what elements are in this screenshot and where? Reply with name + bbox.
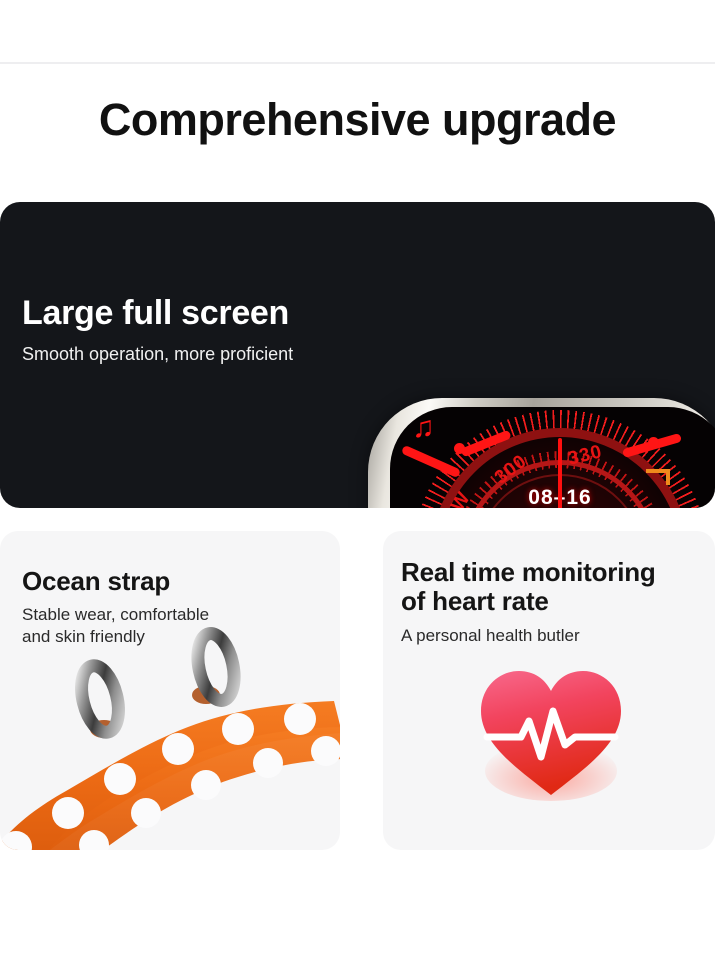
heart-rate-subtitle: A personal health butler <box>401 625 580 647</box>
hero-large-screen-card[interactable]: Large full screen Smooth operation, more… <box>0 202 715 508</box>
heart-pulse-icon <box>471 659 631 804</box>
feature-card-heart-rate[interactable]: Real time monitoring of heart rate A per… <box>383 531 715 850</box>
heart-rate-title-line1: Real time monitoring <box>401 557 656 587</box>
heart-rate-title: Real time monitoring of heart rate <box>401 558 656 616</box>
page-title: Comprehensive upgrade <box>0 95 715 145</box>
hero-text-block: Large full screen Smooth operation, more… <box>22 294 293 365</box>
hero-title: Large full screen <box>22 294 293 333</box>
feature-card-ocean-strap[interactable]: Ocean strap Stable wear, comfortable and… <box>0 531 340 850</box>
ocean-strap-subtitle-line1: Stable wear, comfortable <box>22 605 209 624</box>
hero-subtitle: Smooth operation, more proficient <box>22 344 293 365</box>
music-note-icon-top-left: ♫ <box>412 413 435 443</box>
heart-rate-title-line2: of heart rate <box>401 586 549 616</box>
watch-second-hand <box>558 438 562 508</box>
product-detail-page: Comprehensive upgrade Large full screen … <box>0 0 715 979</box>
ocean-strap-title: Ocean strap <box>22 567 170 596</box>
smartwatch-image: 300 330 W 240 270 S 120 150 700.35 ♫ 08–… <box>368 398 715 508</box>
metal-loop-left <box>75 662 124 736</box>
watch-screen: 300 330 W 240 270 S 120 150 700.35 ♫ 08–… <box>390 407 715 508</box>
slider-knob-top-right <box>648 437 659 448</box>
header-divider <box>0 62 715 64</box>
slider-knob-top-left <box>454 443 465 454</box>
orange-bracket-icon <box>646 469 670 485</box>
ocean-strap-illustration <box>0 623 340 850</box>
